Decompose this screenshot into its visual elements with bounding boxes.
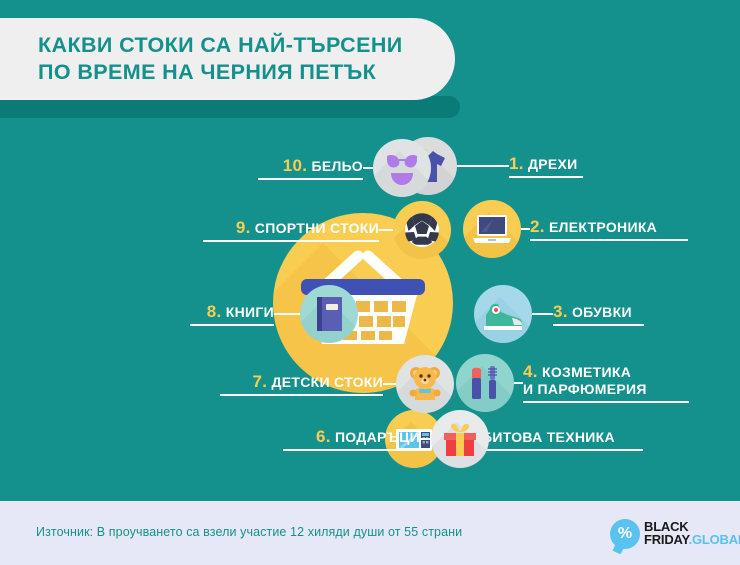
logo-global-text: .GLOBAL <box>689 532 740 547</box>
rank-label-text: КНИГИ <box>222 304 274 320</box>
label-underline <box>530 239 688 241</box>
rank-item-label: 2. ЕЛЕКТРОНИКА <box>530 218 688 236</box>
page-title-line-2: ПО ВРЕМЕ НА ЧЕРНИЯ ПЕТЪК <box>38 59 425 86</box>
source-note: Източник: В проучването са взели участие… <box>36 525 462 539</box>
label-underline <box>463 449 643 451</box>
rank-item-label: 4. КОЗМЕТИКА <box>523 363 689 381</box>
book-icon <box>300 285 358 343</box>
rank-item-9[interactable]: 9. СПОРТНИ СТОКИ <box>203 199 451 261</box>
footer-bar: Източник: В проучването са взели участие… <box>0 501 740 565</box>
rank-item-label: 6. ПОДАРЪЦИ <box>283 428 420 446</box>
label-underline <box>203 240 379 242</box>
rank-number: 7. <box>252 372 267 391</box>
percent-symbol: % <box>610 519 640 549</box>
cosmetics-icon <box>456 354 514 412</box>
connector-line <box>514 382 523 384</box>
rank-label-text: ОБУВКИ <box>568 304 632 320</box>
infographic-canvas: КАКВИ СТОКИ СА НАЙ-ТЪРСЕНИ ПО ВРЕМЕ НА Ч… <box>0 0 740 565</box>
rank-number: 9. <box>236 218 251 237</box>
sneaker-icon <box>474 285 532 343</box>
rank-number: 6. <box>316 427 331 446</box>
rank-item-label: 5. БИТОВА ТЕХНИКА <box>463 428 643 446</box>
rank-label-text: ПОДАРЪЦИ <box>331 429 420 445</box>
title-banner: КАКВИ СТОКИ СА НАЙ-ТЪРСЕНИ ПО ВРЕМЕ НА Ч… <box>0 18 455 100</box>
lingerie-icon <box>373 139 431 197</box>
label-underline <box>283 449 420 451</box>
rank-number: 4. <box>523 362 538 381</box>
rank-item-8[interactable]: 8. КНИГИ <box>190 283 358 345</box>
logo-friday-text: FRIDAY <box>644 532 689 547</box>
rank-item-label: 1. ДРЕХИ <box>509 155 583 173</box>
label-underline <box>258 178 363 180</box>
rank-item-text: 3. ОБУВКИ <box>553 303 644 326</box>
rank-label-text: БЕЛЬО <box>307 158 363 174</box>
laptop-icon <box>463 200 521 258</box>
connector-line <box>457 165 509 167</box>
label-underline <box>190 324 274 326</box>
rank-item-text: 8. КНИГИ <box>190 303 274 326</box>
brand-logo[interactable]: % BLACK FRIDAY.GLOBAL <box>610 517 722 551</box>
rank-item-4[interactable]: 4. КОЗМЕТИКАИ ПАРФЮМЕРИЯ <box>456 352 689 414</box>
rank-item-2[interactable]: 2. ЕЛЕКТРОНИКА <box>463 198 688 260</box>
rank-item-label: 7. ДЕТСКИ СТОКИ <box>220 373 383 391</box>
rank-item-label: 3. ОБУВКИ <box>553 303 644 321</box>
rank-item-text: 2. ЕЛЕКТРОНИКА <box>530 218 688 241</box>
page-title-line-1: КАКВИ СТОКИ СА НАЙ-ТЪРСЕНИ <box>38 32 425 59</box>
rank-label-text: ДЕТСКИ СТОКИ <box>267 374 383 390</box>
rank-item-3[interactable]: 3. ОБУВКИ <box>474 283 644 345</box>
rank-item-text: 7. ДЕТСКИ СТОКИ <box>220 373 383 396</box>
connector-line <box>274 313 300 315</box>
rank-number: 8. <box>207 302 222 321</box>
rank-item-text: 4. КОЗМЕТИКАИ ПАРФЮМЕРИЯ <box>523 363 689 403</box>
connector-line <box>379 229 393 231</box>
teddy-bear-icon <box>396 355 454 413</box>
label-underline <box>553 324 644 326</box>
rank-label-text: БИТОВА ТЕХНИКА <box>478 429 615 445</box>
rank-number: 3. <box>553 302 568 321</box>
connector-line <box>521 228 530 230</box>
rank-item-label: 9. СПОРТНИ СТОКИ <box>203 219 379 237</box>
rank-item-text: 9. СПОРТНИ СТОКИ <box>203 219 379 242</box>
rank-item-text: 10. БЕЛЬО <box>258 157 363 180</box>
rank-item-label-line2: И ПАРФЮМЕРИЯ <box>523 381 689 398</box>
rank-item-text: 5. БИТОВА ТЕХНИКА <box>463 428 643 451</box>
logo-line-2: FRIDAY.GLOBAL <box>644 533 740 547</box>
rank-item-text: 6. ПОДАРЪЦИ <box>283 428 420 451</box>
rank-item-label: 8. КНИГИ <box>190 303 274 321</box>
rank-item-10[interactable]: 10. БЕЛЬО <box>258 137 431 199</box>
rank-item-7[interactable]: 7. ДЕТСКИ СТОКИ <box>220 353 454 415</box>
rank-label-text: ЕЛЕКТРОНИКА <box>545 219 657 235</box>
label-underline <box>523 401 689 403</box>
rank-item-6[interactable]: 6. ПОДАРЪЦИ <box>283 408 489 470</box>
gift-icon <box>431 410 489 468</box>
rank-item-text: 1. ДРЕХИ <box>509 155 583 178</box>
rank-label-text: КОЗМЕТИКА <box>538 364 631 380</box>
connector-line <box>420 438 431 440</box>
rank-item-label: 10. БЕЛЬО <box>258 157 363 175</box>
rank-number: 10. <box>283 156 308 175</box>
rank-number: 1. <box>509 154 524 173</box>
connector-line <box>532 313 553 315</box>
label-underline <box>509 176 583 178</box>
rank-label-text: ДРЕХИ <box>524 156 578 172</box>
label-underline <box>220 394 383 396</box>
connector-line <box>363 167 373 169</box>
connector-line <box>383 383 396 385</box>
rank-number: 2. <box>530 217 545 236</box>
rank-label-text: СПОРТНИ СТОКИ <box>251 220 379 236</box>
soccer-ball-icon <box>393 201 451 259</box>
